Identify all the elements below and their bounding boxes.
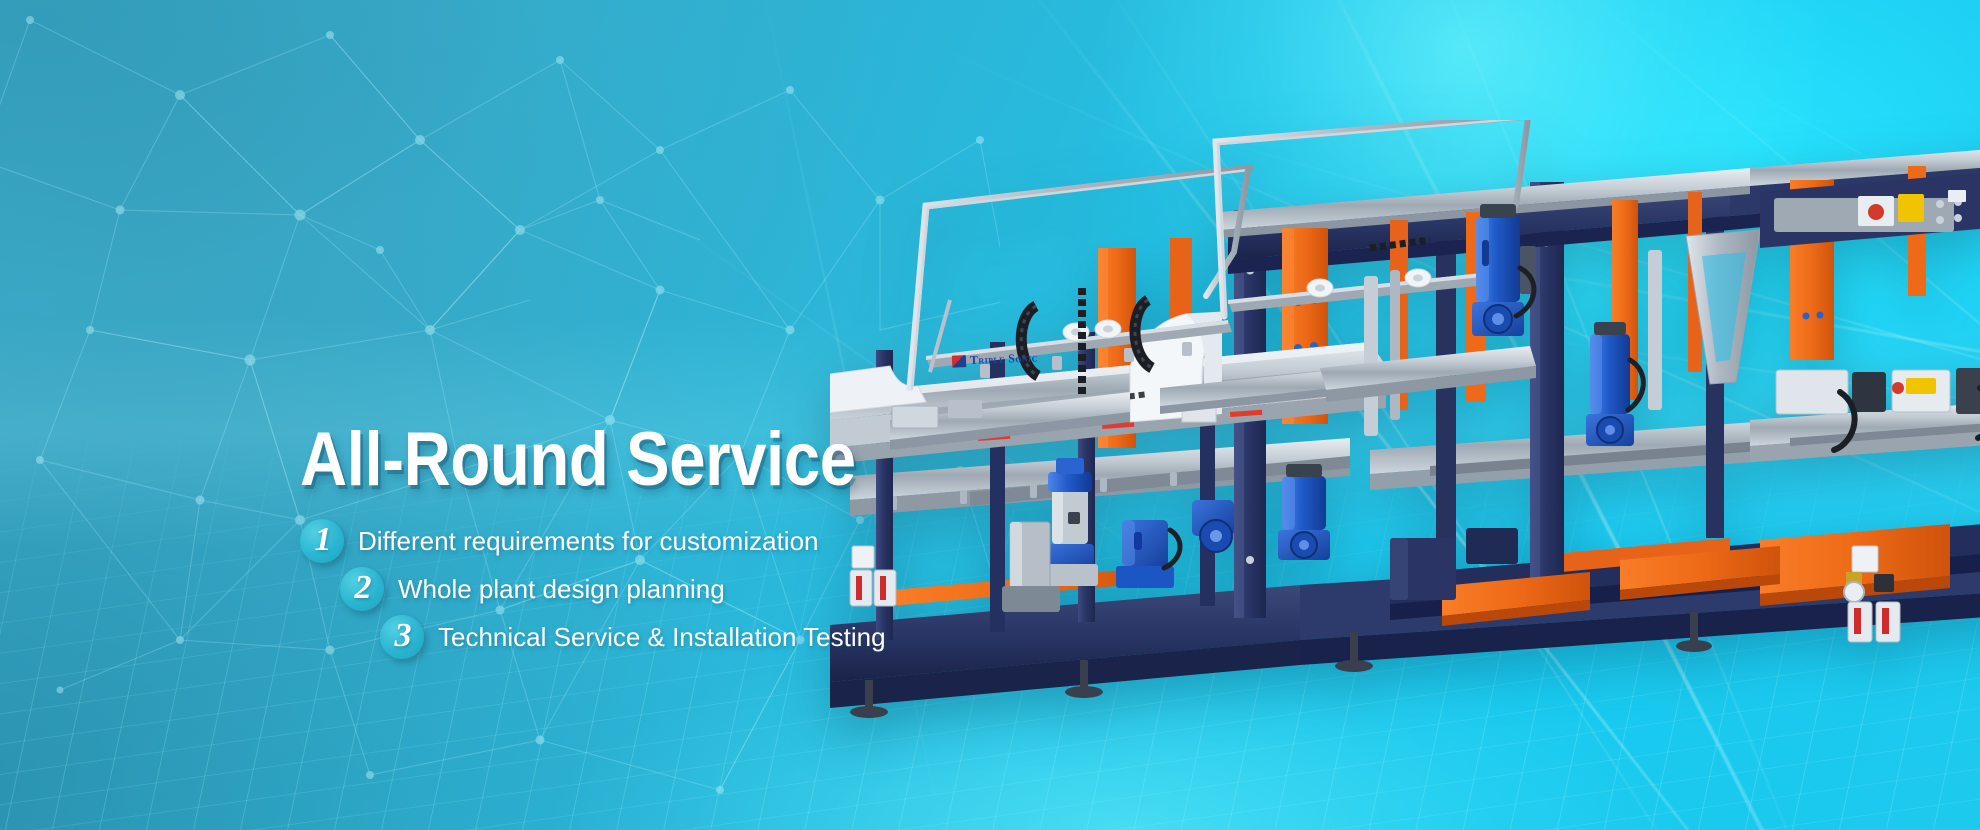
service-point-text-3: Technical Service & Installation Testing [438, 622, 886, 652]
list-item: 1 Different requirements for customizati… [300, 516, 1120, 566]
list-item: 2 Whole plant design planning [340, 564, 1120, 614]
step-number-3: 3 [395, 619, 412, 653]
list-item: 3 Technical Service & Installation Testi… [380, 612, 1120, 662]
service-point-text-2: Whole plant design planning [398, 574, 725, 604]
triple-sonic-logo-mark [952, 355, 966, 368]
step-number-1: 1 [315, 523, 332, 557]
triple-sonic-logo-text: Triple Sonic [970, 350, 1038, 368]
page-title: All-Round Service [300, 420, 1005, 500]
service-point-text-1: Different requirements for customization [358, 526, 819, 556]
step-number-badge: 1 [300, 519, 344, 563]
hero-banner: Triple Sonic All-Round Service 1 Differe… [0, 0, 1980, 830]
banner-copy: All-Round Service 1 Different requiremen… [300, 420, 1120, 662]
step-number-badge: 3 [380, 615, 424, 659]
step-number-2: 2 [355, 571, 372, 605]
service-points-list: 1 Different requirements for customizati… [300, 516, 1120, 662]
step-number-badge: 2 [340, 567, 384, 611]
